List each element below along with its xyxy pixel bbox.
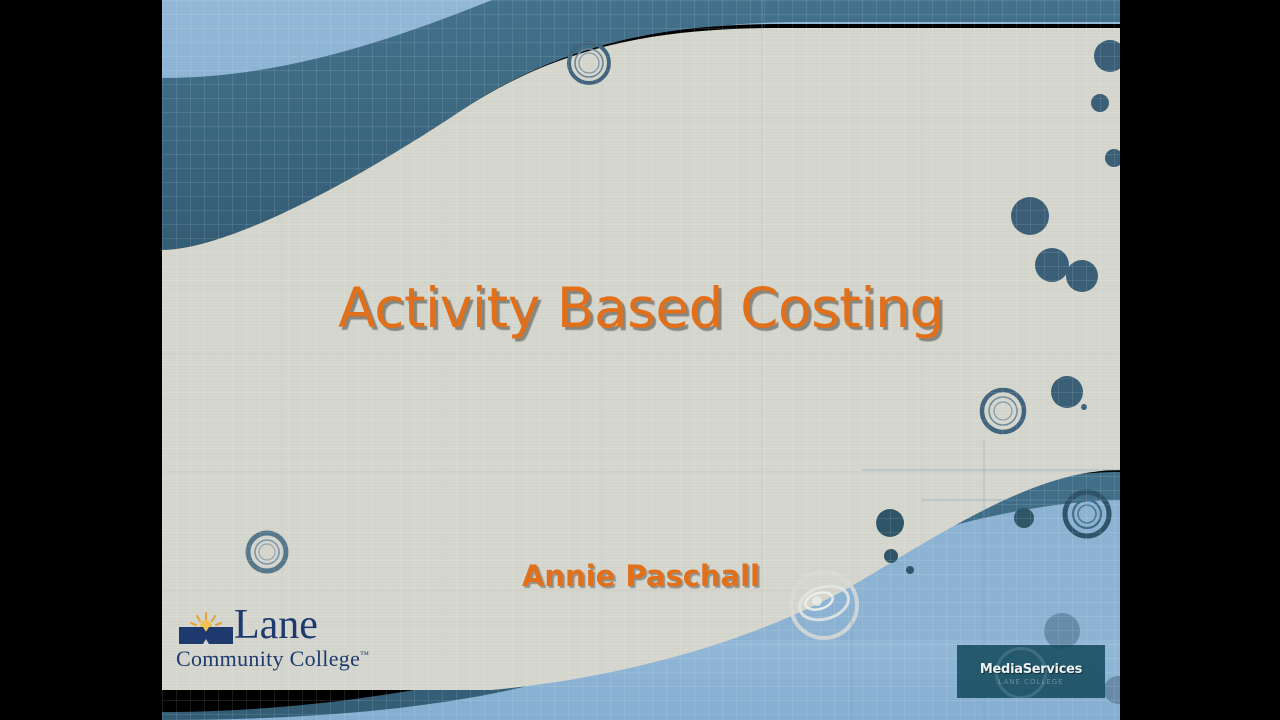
watermark-sublabel: LANE COLLEGE: [957, 678, 1105, 686]
presentation-slide: Activity Based Costing Annie Paschall: [162, 0, 1120, 720]
letterbox-bar-right: [1120, 0, 1280, 720]
slide-title: Activity Based Costing: [162, 276, 1120, 340]
media-services-watermark: MediaServices LANE COLLEGE: [957, 645, 1105, 698]
slide-presenter-name: Annie Paschall: [162, 559, 1120, 593]
logo-cc-text: Community College: [176, 646, 360, 671]
logo-book-sun-icon: [178, 612, 234, 646]
letterbox-bar-left: [0, 0, 162, 720]
logo-wordmark-community-college: Community College™: [176, 646, 369, 672]
lane-community-college-logo: Lane Community College™: [176, 608, 391, 670]
logo-wordmark-lane: Lane: [234, 604, 318, 646]
watermark-label: MediaServices: [957, 662, 1105, 677]
logo-trademark-symbol: ™: [360, 650, 369, 660]
decorative-dot-white: [812, 596, 822, 606]
video-player-viewport: Activity Based Costing Annie Paschall: [0, 0, 1280, 720]
